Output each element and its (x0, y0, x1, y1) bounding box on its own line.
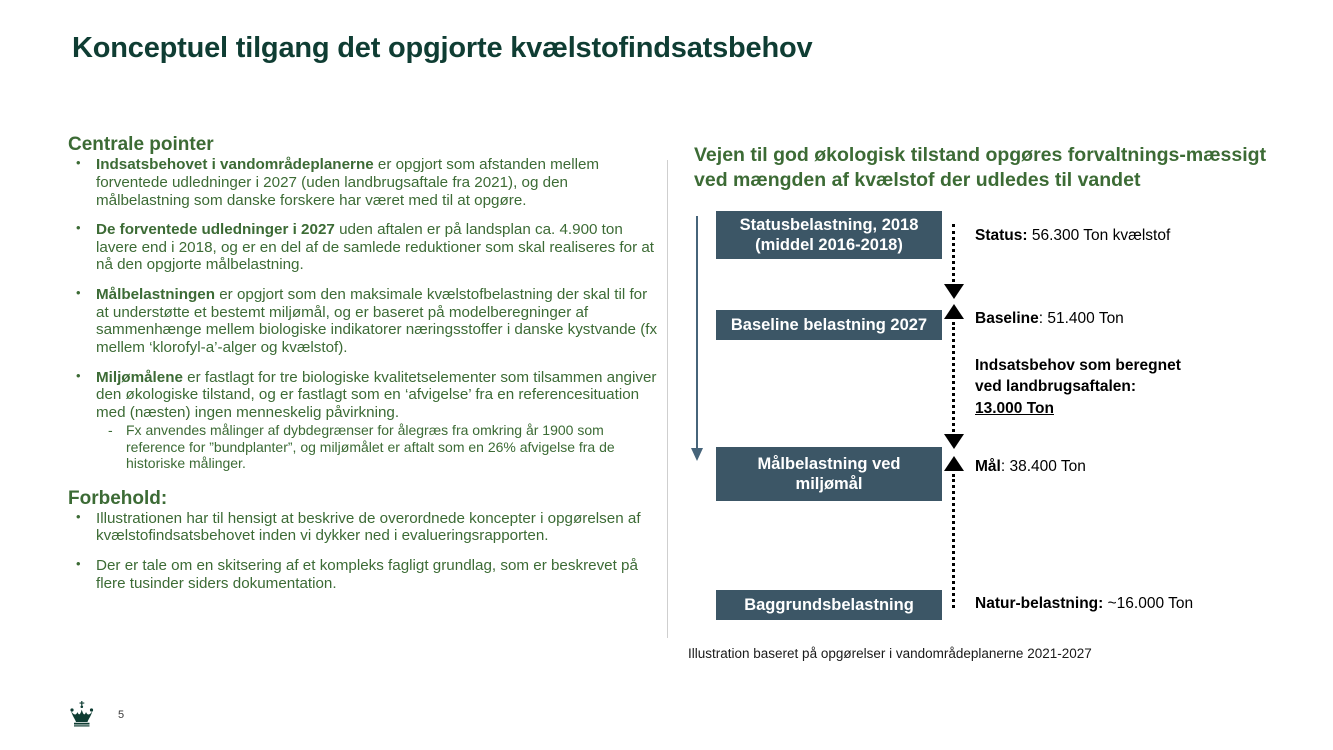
arrow-down-icon (944, 434, 964, 449)
arrow-up-icon (944, 456, 964, 471)
indsats-line2: ved landbrugsaftalen: (975, 376, 1181, 397)
bullet-lead: De forventede udledninger i 2027 (96, 221, 335, 238)
box-maal-line1: Målbelastning ved (757, 455, 900, 473)
danish-crown-icon (68, 700, 96, 730)
centrale-pointer-list: Indsatsbehovet i vandområdeplanerne er o… (68, 156, 660, 471)
label-baseline: Baseline: 51.400 Ton (975, 310, 1124, 328)
box-status-line2: (middel 2016-2018) (755, 236, 903, 254)
left-column: Centrale pointer Indsatsbehovet i vandom… (68, 134, 660, 604)
label-maal-key: Mål (975, 458, 1001, 475)
reduction-arrow-icon (691, 448, 703, 461)
page-title: Konceptuel tilgang det opgjorte kvælstof… (72, 32, 812, 65)
label-maal-value: : 38.400 Ton (1001, 458, 1086, 475)
source-note: Illustration baseret på opgørelser i van… (688, 646, 1092, 661)
label-baseline-key: Baseline (975, 310, 1039, 327)
dotted-line-maal-baggrund (952, 474, 955, 608)
box-maal-line2: miljømål (796, 475, 863, 493)
list-item: Der er tale om en skitsering af et kompl… (68, 557, 660, 592)
list-item: De forventede udledninger i 2027 uden af… (68, 221, 660, 274)
arrow-up-icon (944, 304, 964, 319)
arrow-down-icon (944, 284, 964, 299)
reduction-arrow-line (696, 216, 698, 452)
forbehold-list: Illustrationen har til hensigt at beskri… (68, 510, 660, 593)
list-item: Indsatsbehovet i vandområdeplanerne er o… (68, 156, 660, 209)
nitrogen-load-diagram: Statusbelastning, 2018 (middel 2016-2018… (668, 200, 1288, 650)
label-status-key: Status: (975, 227, 1028, 244)
list-item: Målbelastningen er opgjort som den maksi… (68, 286, 660, 357)
label-status-value: 56.300 Ton kvælstof (1028, 227, 1171, 244)
label-baseline-value: : 51.400 Ton (1039, 310, 1124, 327)
sub-bullet-list: Fx anvendes målinger af dybdegrænser for… (96, 422, 660, 471)
label-natur-belastning: Natur-belastning: ~16.000 Ton (975, 595, 1193, 613)
dotted-line-baseline-maal (952, 322, 955, 432)
label-natur-value: ~16.000 Ton (1103, 595, 1193, 612)
indsats-line1: Indsatsbehov som beregnet (975, 355, 1181, 376)
box-status-line1: Statusbelastning, 2018 (740, 216, 919, 234)
indsats-amount: 13.000 Ton (975, 398, 1181, 419)
list-item: Illustrationen har til hensigt at beskri… (68, 510, 660, 545)
label-indsatsbehov: Indsatsbehov som beregnet ved landbrugsa… (975, 355, 1181, 419)
box-baggrundsbelastning: Baggrundsbelastning (716, 590, 942, 620)
bullet-lead: Indsatsbehovet i vandområdeplanerne (96, 156, 374, 173)
label-status: Status: 56.300 Ton kvælstof (975, 227, 1170, 245)
label-maal: Mål: 38.400 Ton (975, 458, 1086, 476)
list-item: Miljømålene er fastlagt for tre biologis… (68, 369, 660, 472)
label-natur-key: Natur-belastning: (975, 595, 1103, 612)
dotted-line-status-baseline (952, 224, 955, 282)
box-maalbelastning: Målbelastning ved miljømål (716, 447, 942, 501)
bullet-lead: Miljømålene (96, 369, 183, 386)
bullet-lead: Målbelastningen (96, 286, 215, 303)
centrale-pointer-heading: Centrale pointer (68, 134, 660, 155)
page-number: 5 (118, 709, 124, 721)
right-column-heading: Vejen til god økologisk tilstand opgøres… (694, 143, 1274, 193)
box-baseline-belastning: Baseline belastning 2027 (716, 310, 942, 340)
slide: Konceptuel tilgang det opgjorte kvælstof… (0, 0, 1333, 750)
footer: 5 (68, 700, 124, 730)
sub-list-item: Fx anvendes målinger af dybdegrænser for… (96, 422, 660, 471)
box-statusbelastning: Statusbelastning, 2018 (middel 2016-2018… (716, 211, 942, 259)
forbehold-heading: Forbehold: (68, 488, 660, 509)
